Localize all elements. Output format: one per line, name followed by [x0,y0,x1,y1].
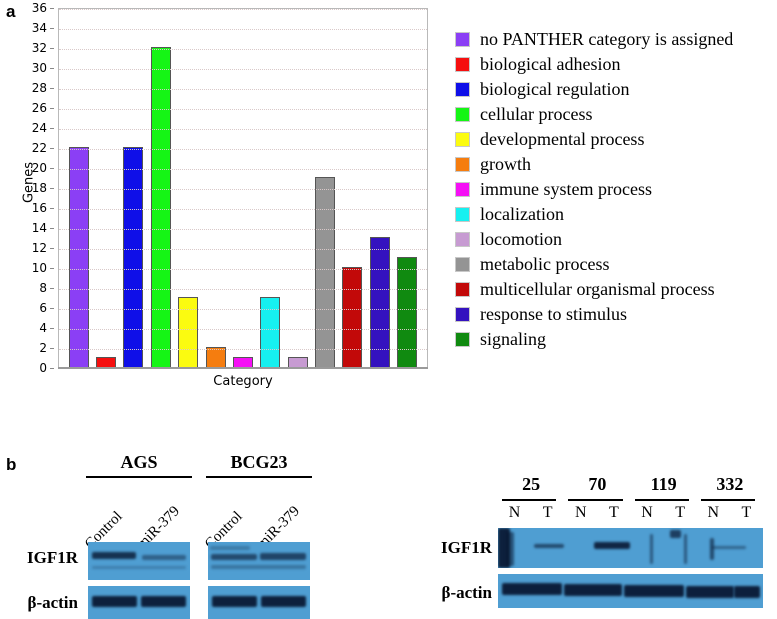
plot-area [58,8,428,368]
bar-10 [342,267,362,367]
gridline-26 [59,109,427,110]
lane-label-25-N: N [498,504,531,522]
blot-band [210,546,250,550]
lane-label-70-N: N [564,504,597,522]
bar-11 [370,237,390,367]
lane-label-25-T: T [531,504,564,522]
blot-band [734,586,760,598]
legend-swatch-icon [455,232,470,247]
legend-item-8: locomotion [455,227,775,252]
legend-label: signaling [480,329,546,350]
legend-label: immune system process [480,179,652,200]
actin-strip [498,574,763,608]
y-tick-6: 6 [39,303,54,313]
bar-5 [206,347,226,367]
legend-label: response to stimulus [480,304,627,325]
legend-label: biological regulation [480,79,629,100]
row-label-igf1r: IGF1R [420,538,492,558]
y-tick-4: 4 [39,323,54,333]
igf1r-strip-BCG23 [208,542,310,580]
lane-label-332-T: T [730,504,763,522]
y-tick-10: 10 [32,263,54,273]
x-axis-title: Category [58,374,428,389]
blot-band [684,534,687,564]
legend-label: metabolic process [480,254,609,275]
gridline-28 [59,89,427,90]
legend-swatch-icon [455,257,470,272]
x-axis-line [58,367,428,369]
y-tick-36: 36 [32,3,54,13]
blot-group-name-70: 70 [564,474,630,495]
lane-label-119-N: N [631,504,664,522]
gridline-12 [59,249,427,250]
row-label-actin: β-actin [420,583,492,603]
blot-band [502,583,562,595]
gene-category-bar-chart: Genes 024681012141618202224262830323436 … [0,0,450,400]
y-tick-24: 24 [32,123,54,133]
blot-group-rule-332 [701,499,755,501]
actin-strip-AGS [88,586,190,619]
y-tick-8: 8 [39,283,54,293]
legend-item-5: growth [455,152,775,177]
legend-label: cellular process [480,104,592,125]
legend-label: multicellular organismal process [480,279,715,300]
y-axis-tick-labels: 024681012141618202224262830323436 [26,8,54,368]
blot-group-name-AGS: AGS [82,452,196,473]
y-tick-22: 22 [32,143,54,153]
legend-item-10: multicellular organismal process [455,277,775,302]
blot-group-name-25: 25 [498,474,564,495]
bar-2 [123,147,143,367]
legend-label: growth [480,154,531,175]
legend-swatch-icon [455,157,470,172]
blot-group-rule-25 [502,499,556,501]
chart-legend: no PANTHER category is assignedbiologica… [455,27,775,352]
blot-band [594,542,630,549]
lane-label-332-N: N [697,504,730,522]
blot-band [92,566,186,569]
blot-band [212,596,257,607]
blot-band [686,586,734,598]
y-tick-28: 28 [32,83,54,93]
y-tick-30: 30 [32,63,54,73]
legend-item-0: no PANTHER category is assigned [455,27,775,52]
lane-label-119-T: T [664,504,697,522]
gridline-8 [59,289,427,290]
western-blot-cell-lines: IGF1Rβ-actinAGSControlmiR-379BCG23Contro… [0,450,340,619]
blot-band [141,596,186,607]
legend-item-9: metabolic process [455,252,775,277]
y-tick-0: 0 [39,363,54,373]
blot-group-name-119: 119 [631,474,697,495]
igf1r-strip-AGS [88,542,190,580]
legend-swatch-icon [455,207,470,222]
blot-band [260,553,306,560]
blot-band [650,534,653,564]
blot-band [211,565,306,569]
gridline-16 [59,209,427,210]
blot-group-rule-119 [635,499,689,501]
legend-swatch-icon [455,132,470,147]
legend-swatch-icon [455,282,470,297]
legend-swatch-icon [455,182,470,197]
blot-band [506,532,514,566]
legend-label: developmental process [480,129,644,150]
bar-1 [96,357,116,367]
legend-item-11: response to stimulus [455,302,775,327]
blot-band [261,596,306,607]
blot-group-rule-70 [568,499,622,501]
legend-item-6: immune system process [455,177,775,202]
blot-band [670,530,681,538]
igf1r-strip [498,528,763,568]
legend-item-12: signaling [455,327,775,352]
gridline-32 [59,49,427,50]
legend-item-2: biological regulation [455,77,775,102]
blot-band [712,546,746,549]
bar-series [59,9,427,367]
y-tick-34: 34 [32,23,54,33]
blot-band [211,554,257,560]
gridline-36 [59,9,427,10]
gridline-6 [59,309,427,310]
row-label-igf1r: IGF1R [0,548,78,568]
gridline-20 [59,169,427,170]
legend-label: localization [480,204,564,225]
gridline-14 [59,229,427,230]
y-tick-20: 20 [32,163,54,173]
legend-swatch-icon [455,332,470,347]
legend-label: biological adhesion [480,54,620,75]
bar-4 [178,297,198,367]
blot-group-rule-BCG23 [206,476,312,478]
gridline-24 [59,129,427,130]
blot-band [142,555,186,560]
blot-band [92,596,137,607]
y-tick-26: 26 [32,103,54,113]
legend-swatch-icon [455,107,470,122]
lane-label-70-T: T [597,504,630,522]
gridline-10 [59,269,427,270]
blot-band [710,538,714,560]
blot-band [564,584,622,596]
blot-band [92,552,136,559]
bar-3 [151,47,171,367]
y-tick-16: 16 [32,203,54,213]
y-tick-12: 12 [32,243,54,253]
blot-group-name-332: 332 [697,474,763,495]
legend-swatch-icon [455,307,470,322]
bar-7 [260,297,280,367]
legend-item-7: localization [455,202,775,227]
bar-0 [69,147,89,367]
western-blot-patient-samples: IGF1Rβ-actin25NT70NT119NT332NT [420,470,777,619]
bar-8 [288,357,308,367]
legend-item-4: developmental process [455,127,775,152]
actin-strip-BCG23 [208,586,310,619]
gridline-34 [59,29,427,30]
blot-band [534,544,564,548]
legend-swatch-icon [455,82,470,97]
legend-swatch-icon [455,57,470,72]
gridline-4 [59,329,427,330]
y-tick-14: 14 [32,223,54,233]
bar-9 [315,177,335,367]
legend-item-3: cellular process [455,102,775,127]
legend-label: locomotion [480,229,562,250]
blot-band [624,585,684,597]
gridline-22 [59,149,427,150]
y-tick-18: 18 [32,183,54,193]
gridline-30 [59,69,427,70]
blot-group-name-BCG23: BCG23 [202,452,316,473]
gridline-18 [59,189,427,190]
y-tick-32: 32 [32,43,54,53]
blot-group-rule-AGS [86,476,192,478]
legend-item-1: biological adhesion [455,52,775,77]
y-tick-2: 2 [39,343,54,353]
bar-12 [397,257,417,367]
gridline-2 [59,349,427,350]
row-label-actin: β-actin [0,593,78,613]
legend-label: no PANTHER category is assigned [480,29,733,50]
bar-6 [233,357,253,367]
legend-swatch-icon [455,32,470,47]
